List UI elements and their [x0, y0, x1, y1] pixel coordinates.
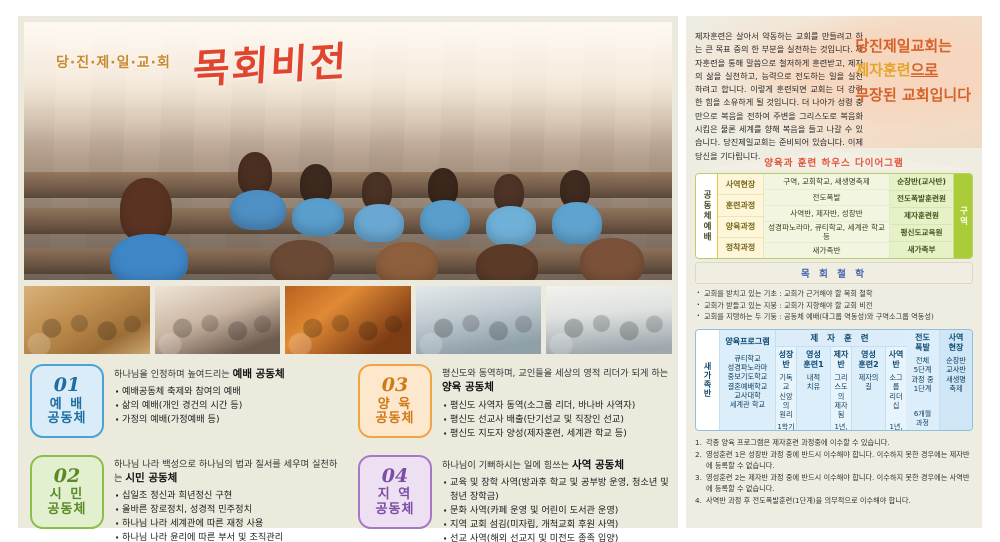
headline-line-1: 당진제일교회는	[855, 34, 971, 58]
program-cell: 사역반, 제자반, 성장반	[764, 206, 889, 222]
list-item: 하나님 나라 세계관에 따른 재정 사용	[114, 517, 342, 531]
house-diagram: 양육과 훈련 하우스 다이어그램 공동체예배 사역현장 훈련과정 양육과정 정착…	[695, 150, 973, 259]
page-title: 목회비전	[191, 29, 349, 95]
pastoral-philosophy-title: 목 회 철 학	[695, 262, 973, 284]
list-item: 교육 및 장학 사역(방과후 학교 및 공부방 운영, 청소년 및 청년 장학금…	[442, 476, 670, 504]
community-card-worship: 01 예 배 공동체 하나님을 인정하며 높여드리는 예배 공동체 예배공동체 …	[24, 360, 344, 447]
column-duration: 1년, 32주과정	[831, 421, 851, 431]
training-column-spiritual-1: 영성 훈련1 내적 치유 1박 2일	[797, 347, 831, 431]
thumbnail-youth-group	[416, 286, 542, 354]
column-duration: 1학기 14주 과정	[776, 421, 796, 431]
column-body: 순장반 교사반 새생명 축제	[940, 354, 972, 430]
house-column-stages: 사역현장 훈련과정 양육과정 정착과정	[718, 174, 764, 258]
community-item-list: 평신도 사역자 동역(소그룹 리더, 바나바 사역자) 평신도 선교사 배출(단…	[442, 399, 670, 441]
training-column-spiritual-2: 영성 훈련2 제자의 길 1일	[852, 347, 886, 431]
badge-number: 01	[54, 375, 80, 396]
community-heading: 하나님이 기뻐하시는 일에 힘쓰는 사역 공동체	[442, 458, 670, 473]
photo-thumbnail-strip	[24, 286, 672, 354]
badge-name-line1: 양 육	[378, 398, 412, 413]
house-column-district: 구역	[954, 174, 972, 258]
list-item: 가정의 예배(가정예배 등)	[114, 413, 342, 427]
community-item-list: 십일조 정신과 희년정신 구현 올바른 장로정치, 성경적 민주정치 하나님 나…	[114, 489, 342, 542]
thumbnail-worship-service	[546, 286, 672, 354]
community-card-nurture: 03 양 육 공동체 평신도와 동역하며, 교인들을 세상의 영적 리더가 되게…	[352, 360, 672, 447]
list-item: 올바른 장로정치, 성경적 민주정치	[114, 503, 342, 517]
column-header: 영성 훈련1	[797, 347, 830, 371]
list-item: 교회가 받들고 있는 지붕 : 교회가 지향해야 할 교회 비전	[697, 300, 973, 312]
house-column-community-worship: 공동체예배	[696, 174, 718, 258]
list-item: 삶의 예배(개인 경건의 시간 등)	[114, 399, 342, 413]
column-body: 내적 치유	[797, 371, 830, 431]
program-cell: 새가족반	[764, 243, 889, 258]
training-column-ministry: 사역반 소그룹 리더십 1년, 24주과정	[886, 347, 906, 431]
list-item: 문화 사역(카페 운영 및 어린이 도서관 운영)	[442, 504, 670, 518]
stage-cell: 훈련과정	[718, 195, 763, 216]
community-badge-04: 04 지 역 공동체	[358, 455, 432, 529]
institute-cell: 평신도교육원	[890, 225, 953, 242]
badge-name-line1: 시 민	[50, 488, 84, 503]
stage-cell: 사역현장	[718, 174, 763, 195]
badge-name-line2: 공동체	[376, 412, 415, 427]
column-body: 전체 5단계 과정 중 1단계	[906, 354, 939, 408]
badge-name-line2: 공동체	[48, 412, 87, 427]
community-cards: 01 예 배 공동체 하나님을 인정하며 높여드리는 예배 공동체 예배공동체 …	[24, 360, 672, 542]
column-header: 성장반	[776, 347, 796, 371]
note-item: 3.영성훈련 2는 제자반 과정 중에 반드시 이수해야 합니다. 이수하지 못…	[695, 473, 973, 495]
house-diagram-title: 양육과 훈련 하우스 다이어그램	[695, 150, 973, 173]
community-card-region: 04 지 역 공동체 하나님이 기뻐하시는 일에 힘쓰는 사역 공동체 교육 및…	[352, 451, 672, 542]
list-item: 예배공동체 축제와 참여의 예배	[114, 385, 342, 399]
church-name: 당·진·제·일·교·회	[56, 52, 171, 72]
column-duration: 6개월 과정	[906, 408, 939, 430]
community-badge-03: 03 양 육 공동체	[358, 364, 432, 438]
house-diagram-table: 공동체예배 사역현장 훈련과정 양육과정 정착과정 구역, 교회학교, 새생명축…	[695, 173, 973, 259]
note-item: 1.각종 양육 프로그램은 제자훈련 과정중에 이수할 수 있습니다.	[695, 438, 973, 449]
institute-cell: 전도폭발훈련원	[890, 191, 953, 208]
column-header: 양육프로그램	[720, 330, 775, 352]
badge-name-line1: 예 배	[50, 398, 84, 413]
column-body: 그리스도의 제자 됨	[831, 371, 851, 421]
headline-line-2: 제자훈련으로	[855, 58, 971, 82]
column-header: 영성 훈련2	[852, 347, 885, 371]
training-column-ministry-field: 사역 현장 순장반 교사반 새생명 축제	[940, 330, 972, 430]
intro-section: 제자훈련은 살아서 약동하는 교회를 만들려고 하는 큰 목표 중의 한 부분을…	[695, 26, 973, 144]
headline-line-3: 무장된 교회입니다	[855, 83, 971, 107]
list-item: 평신도 선교사 배출(단기선교 및 직장인 선교)	[442, 413, 670, 427]
community-heading: 하나님 나라 백성으로 하나님의 법과 질서를 세우며 실천하는 시민 공동체	[114, 458, 342, 487]
training-column-new-family: 새가족반	[696, 330, 720, 430]
training-program-table: 새가족반 양육프로그램 큐티학교 성경파노라마 중보기도학교 결혼예배학교 교사…	[695, 329, 973, 431]
list-item: 평신도 사역자 동역(소그룹 리더, 바나바 사역자)	[442, 399, 670, 413]
training-column-disciple: 제자반 그리스도의 제자 됨 1년, 32주과정	[831, 347, 852, 431]
stage-cell: 양육과정	[718, 217, 763, 238]
column-header: 사역반	[886, 347, 906, 371]
column-header: 사역 현장	[940, 330, 972, 354]
institute-cell: 새가족부	[890, 242, 953, 258]
institute-cell: 제자훈련원	[890, 208, 953, 225]
left-panel: 당·진·제·일·교·회 목회비전 01 예 배 공동체 하나님을 인정하며 높여…	[18, 16, 678, 528]
intro-body-text: 제자훈련은 살아서 약동하는 교회를 만들려고 하는 큰 목표 중의 한 부분을…	[695, 26, 863, 163]
column-body: 제자의 길	[852, 371, 885, 431]
intro-headline: 당진제일교회는 제자훈련으로 무장된 교회입니다	[855, 34, 971, 107]
training-column-evangelism-explosion: 전도 폭발 전체 5단계 과정 중 1단계 6개월 과정	[906, 330, 940, 430]
program-cell: 구역, 교회학교, 새생명축제	[764, 174, 889, 190]
list-item: 선교 사역(해외 선교지 및 미전도 종족 입양)	[442, 532, 670, 542]
badge-name-line2: 공동체	[376, 503, 415, 518]
stage-cell: 정착과정	[718, 238, 763, 258]
training-group-discipleship: 제 자 훈 련 성장반 기독교 신앙의 원리 1학기 14주 과정 영성 훈련1…	[776, 330, 906, 430]
column-body: 큐티학교 성경파노라마 중보기도학교 결혼예배학교 교사대학 세계관 학교	[720, 352, 775, 430]
badge-number: 04	[382, 466, 408, 487]
note-item: 2.영성훈련 1은 성장반 과정 중에 반드시 이수해야 합니다. 이수하지 못…	[695, 450, 973, 472]
house-column-programs: 구역, 교회학교, 새생명축제 전도폭발 사역반, 제자반, 성장반 성경파노라…	[764, 174, 890, 258]
column-body: 기독교 신앙의 원리	[776, 371, 796, 421]
badge-number: 02	[54, 466, 80, 487]
community-heading: 하나님을 인정하며 높여드리는 예배 공동체	[114, 367, 342, 382]
badge-name-line1: 지 역	[378, 488, 412, 503]
community-item-list: 예배공동체 축제와 참여의 예배 삶의 예배(개인 경건의 시간 등) 가정의 …	[114, 385, 342, 427]
community-badge-02: 02 시 민 공동체	[30, 455, 104, 529]
column-duration: 1년, 24주과정	[886, 421, 906, 431]
house-far-right-label: 구역	[957, 206, 969, 227]
new-family-label: 새가족반	[702, 362, 713, 398]
list-item: 십일조 정신과 희년정신 구현	[114, 489, 342, 503]
institute-cell: 순장반(교사반)	[890, 174, 953, 191]
list-item: 평신도 지도자 양성(제자훈련, 세계관 학교 등)	[442, 427, 670, 441]
group-header: 제 자 훈 련	[776, 330, 906, 347]
brochure-page: 당·진·제·일·교·회 목회비전 01 예 배 공동체 하나님을 인정하며 높여…	[0, 0, 1000, 542]
column-body: 소그룹 리더십	[886, 371, 906, 421]
house-column-institutes: 순장반(교사반) 전도폭발훈련원 제자훈련원 평신도교육원 새가족부	[890, 174, 954, 258]
thumbnail-childrens-ministry	[24, 286, 150, 354]
list-item: 하나님 나라 윤리에 따른 부서 및 조직관리	[114, 531, 342, 542]
thumbnail-congregation-prayer	[155, 286, 281, 354]
column-header: 전도 폭발	[906, 330, 939, 354]
community-item-list: 교육 및 장학 사역(방과후 학교 및 공부방 운영, 청소년 및 청년 장학금…	[442, 476, 670, 542]
program-cell: 성경파노라마, 큐티학교, 세계관 학교 등	[764, 222, 889, 243]
list-item: 교회를 받치고 있는 기초 : 교회가 근거해야 할 목회 철학	[697, 288, 973, 300]
community-card-citizen: 02 시 민 공동체 하나님 나라 백성으로 하나님의 법과 질서를 세우며 실…	[24, 451, 344, 542]
note-item: 4.사역반 과정 후 전도폭발훈련(1단계)을 의무적으로 이수해야 합니다.	[695, 496, 973, 507]
thumbnail-fellowship-meal	[285, 286, 411, 354]
hero-title-block: 당·진·제·일·교·회 목회비전	[24, 22, 672, 102]
community-heading: 평신도와 동역하며, 교인들을 세상의 영적 리더가 되게 하는 양육 공동체	[442, 367, 670, 396]
community-badge-01: 01 예 배 공동체	[30, 364, 104, 438]
right-panel: 제자훈련은 살아서 약동하는 교회를 만들려고 하는 큰 목표 중의 한 부분을…	[686, 16, 982, 528]
badge-number: 03	[382, 375, 408, 396]
program-cell: 전도폭발	[764, 190, 889, 206]
badge-name-line2: 공동체	[48, 503, 87, 518]
pastoral-philosophy-list: 교회를 받치고 있는 기초 : 교회가 근거해야 할 목회 철학 교회가 받들고…	[697, 288, 973, 323]
house-left-label: 공동체예배	[701, 190, 713, 243]
column-header: 제자반	[831, 347, 851, 371]
training-notes-list: 1.각종 양육 프로그램은 제자훈련 과정중에 이수할 수 있습니다. 2.영성…	[695, 438, 973, 507]
training-column-growth: 성장반 기독교 신앙의 원리 1학기 14주 과정	[776, 347, 797, 431]
hero-photo-sanctuary: 당·진·제·일·교·회 목회비전	[24, 22, 672, 280]
list-item: 지역 교회 섬김(미자립, 개척교회 후원 사역)	[442, 518, 670, 532]
list-item: 교회를 지탱하는 두 기둥 : 공동체 예배(대그룹 역동성)와 구역소그룹 역…	[697, 311, 973, 323]
training-column-nurture: 양육프로그램 큐티학교 성경파노라마 중보기도학교 결혼예배학교 교사대학 세계…	[720, 330, 776, 430]
